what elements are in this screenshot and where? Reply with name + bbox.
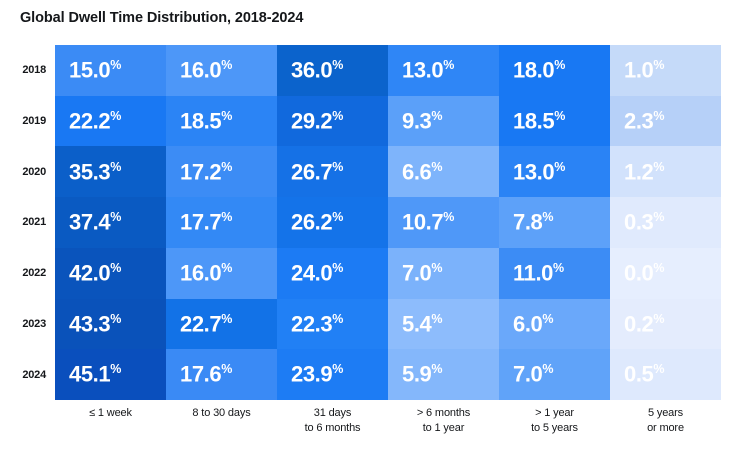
cell-value: 23.9% [291, 363, 343, 385]
cell-value-suffix: % [653, 362, 664, 376]
cell-value-suffix: % [221, 362, 232, 376]
heatmap-cell: 16.0% [166, 45, 277, 96]
cell-value-suffix: % [653, 261, 664, 275]
column-label-line: ≤ 1 week [89, 406, 132, 421]
cell-value-suffix: % [554, 160, 565, 174]
heatmap-cell: 2.3% [610, 96, 721, 147]
cell-value-suffix: % [443, 58, 454, 72]
column-label-5: 5 yearsor more [610, 404, 721, 450]
heatmap-cell: 6.6% [388, 146, 499, 197]
cell-value: 22.2% [69, 110, 121, 132]
cell-value: 18.5% [180, 110, 232, 132]
column-label-1: 8 to 30 days [166, 404, 277, 450]
cell-value: 16.0% [180, 59, 232, 81]
cell-value-suffix: % [431, 261, 442, 275]
cell-value-suffix: % [332, 160, 343, 174]
heatmap-cell: 5.4% [388, 299, 499, 350]
column-label-0: ≤ 1 week [55, 404, 166, 450]
heatmap-cell: 10.7% [388, 197, 499, 248]
cell-value: 22.3% [291, 313, 343, 335]
heatmap-cell: 22.2% [55, 96, 166, 147]
cell-value-suffix: % [110, 312, 121, 326]
cell-value: 0.3% [624, 211, 665, 233]
heatmap-chart: Global Dwell Time Distribution, 2018-202… [0, 0, 751, 451]
cell-value: 45.1% [69, 363, 121, 385]
row-label-2023: 2023 [0, 299, 48, 350]
cell-value-suffix: % [431, 362, 442, 376]
heatmap-cell: 17.6% [166, 349, 277, 400]
cell-value: 6.0% [513, 313, 554, 335]
column-label-4: > 1 yearto 5 years [499, 404, 610, 450]
heatmap-cell: 1.0% [610, 45, 721, 96]
cell-value: 17.2% [180, 161, 232, 183]
cell-value: 1.2% [624, 161, 665, 183]
cell-value-suffix: % [110, 160, 121, 174]
cell-value-suffix: % [431, 160, 442, 174]
cell-value-suffix: % [431, 312, 442, 326]
cell-value: 13.0% [513, 161, 565, 183]
cell-value: 26.2% [291, 211, 343, 233]
heatmap-cell: 0.2% [610, 299, 721, 350]
cell-value: 7.8% [513, 211, 554, 233]
cell-value: 5.4% [402, 313, 443, 335]
cell-value-suffix: % [332, 210, 343, 224]
column-label-line: or more [647, 421, 684, 436]
cell-value: 0.5% [624, 363, 665, 385]
heatmap-cell: 0.5% [610, 349, 721, 400]
heatmap-cell: 0.3% [610, 197, 721, 248]
heatmap-cell: 22.7% [166, 299, 277, 350]
cell-value: 43.3% [69, 313, 121, 335]
row-label-2019: 2019 [0, 96, 48, 147]
column-label-3: > 6 monthsto 1 year [388, 404, 499, 450]
heatmap-cell: 6.0% [499, 299, 610, 350]
cell-value-suffix: % [221, 261, 232, 275]
heatmap-cell: 18.0% [499, 45, 610, 96]
row-label-2018: 2018 [0, 45, 48, 96]
cell-value: 15.0% [69, 59, 121, 81]
heatmap-cell: 11.0% [499, 248, 610, 299]
heatmap-cell: 7.8% [499, 197, 610, 248]
cell-value-suffix: % [110, 362, 121, 376]
heatmap-cell: 36.0% [277, 45, 388, 96]
heatmap-cell: 45.1% [55, 349, 166, 400]
heatmap-cell: 26.7% [277, 146, 388, 197]
cell-value: 2.3% [624, 110, 665, 132]
heatmap-cell: 35.3% [55, 146, 166, 197]
cell-value-suffix: % [431, 109, 442, 123]
cell-value: 10.7% [402, 211, 454, 233]
column-label-2: 31 daysto 6 months [277, 404, 388, 450]
cell-value: 36.0% [291, 59, 343, 81]
heatmap-cell: 1.2% [610, 146, 721, 197]
cell-value: 18.5% [513, 110, 565, 132]
cell-value: 11.0% [513, 262, 564, 284]
page-title: Global Dwell Time Distribution, 2018-202… [20, 10, 303, 26]
cell-value-suffix: % [443, 210, 454, 224]
cell-value: 6.6% [402, 161, 443, 183]
heatmap-cell: 9.3% [388, 96, 499, 147]
row-label-2024: 2024 [0, 349, 48, 400]
cell-value: 35.3% [69, 161, 121, 183]
column-label-line: to 6 months [305, 421, 361, 436]
row-labels-axis: 2018201920202021202220232024 [0, 45, 48, 400]
cell-value-suffix: % [221, 109, 232, 123]
heatmap-cell: 23.9% [277, 349, 388, 400]
cell-value: 5.9% [402, 363, 443, 385]
heatmap-cell: 24.0% [277, 248, 388, 299]
cell-value-suffix: % [221, 312, 232, 326]
cell-value-suffix: % [332, 58, 343, 72]
cell-value-suffix: % [332, 109, 343, 123]
cell-value-suffix: % [542, 210, 553, 224]
column-label-line: > 1 year [531, 406, 578, 421]
heatmap-cell: 17.7% [166, 197, 277, 248]
cell-value-suffix: % [221, 210, 232, 224]
column-label-line: 5 years [647, 406, 684, 421]
cell-value-suffix: % [653, 312, 664, 326]
heatmap-cell: 18.5% [499, 96, 610, 147]
cell-value: 29.2% [291, 110, 343, 132]
cell-value: 1.0% [624, 59, 665, 81]
cell-value: 7.0% [402, 262, 443, 284]
row-label-2022: 2022 [0, 248, 48, 299]
cell-value: 13.0% [402, 59, 454, 81]
cell-value-suffix: % [653, 109, 664, 123]
cell-value-suffix: % [332, 362, 343, 376]
cell-value-suffix: % [653, 160, 664, 174]
cell-value: 7.0% [513, 363, 554, 385]
cell-value: 26.7% [291, 161, 343, 183]
cell-value-suffix: % [553, 261, 564, 275]
heatmap-cell: 15.0% [55, 45, 166, 96]
column-label-line: > 6 months [417, 406, 470, 421]
cell-value: 9.3% [402, 110, 443, 132]
cell-value: 0.2% [624, 313, 665, 335]
row-label-2021: 2021 [0, 197, 48, 248]
cell-value: 17.7% [180, 211, 232, 233]
column-label-line: to 5 years [531, 421, 578, 436]
cell-value-suffix: % [110, 210, 121, 224]
heatmap-cell: 26.2% [277, 197, 388, 248]
cell-value-suffix: % [332, 261, 343, 275]
row-label-2020: 2020 [0, 146, 48, 197]
cell-value-suffix: % [554, 58, 565, 72]
cell-value: 37.4% [69, 211, 121, 233]
cell-value-suffix: % [332, 312, 343, 326]
column-label-line: to 1 year [417, 421, 470, 436]
column-label-line: 8 to 30 days [192, 406, 250, 421]
heatmap-cell: 13.0% [499, 146, 610, 197]
cell-value: 0.0% [624, 262, 665, 284]
cell-value-suffix: % [653, 210, 664, 224]
cell-value-suffix: % [221, 58, 232, 72]
cell-value-suffix: % [542, 312, 553, 326]
heatmap-cell: 17.2% [166, 146, 277, 197]
cell-value-suffix: % [110, 58, 121, 72]
cell-value-suffix: % [221, 160, 232, 174]
heatmap-cell: 42.0% [55, 248, 166, 299]
heatmap-cell: 37.4% [55, 197, 166, 248]
column-label-line: 31 days [305, 406, 361, 421]
cell-value: 42.0% [69, 262, 121, 284]
cell-value-suffix: % [653, 58, 664, 72]
heatmap-cell: 5.9% [388, 349, 499, 400]
cell-value: 17.6% [180, 363, 232, 385]
cell-value: 22.7% [180, 313, 232, 335]
heatmap-cell: 7.0% [388, 248, 499, 299]
cell-value: 24.0% [291, 262, 343, 284]
cell-value-suffix: % [554, 109, 565, 123]
cell-value-suffix: % [110, 261, 121, 275]
heatmap-cell: 29.2% [277, 96, 388, 147]
cell-value: 16.0% [180, 262, 232, 284]
heatmap-cell: 13.0% [388, 45, 499, 96]
heatmap-cell: 43.3% [55, 299, 166, 350]
heatmap-cell: 22.3% [277, 299, 388, 350]
heatmap-cell: 16.0% [166, 248, 277, 299]
heatmap-cell: 18.5% [166, 96, 277, 147]
heatmap-cell: 0.0% [610, 248, 721, 299]
cell-value: 18.0% [513, 59, 565, 81]
heatmap-grid: 15.0%16.0%36.0%13.0%18.0%1.0%22.2%18.5%2… [55, 45, 721, 400]
heatmap-cell: 7.0% [499, 349, 610, 400]
cell-value-suffix: % [110, 109, 121, 123]
cell-value-suffix: % [542, 362, 553, 376]
column-labels-axis: ≤ 1 week8 to 30 days31 daysto 6 months> … [55, 404, 721, 450]
